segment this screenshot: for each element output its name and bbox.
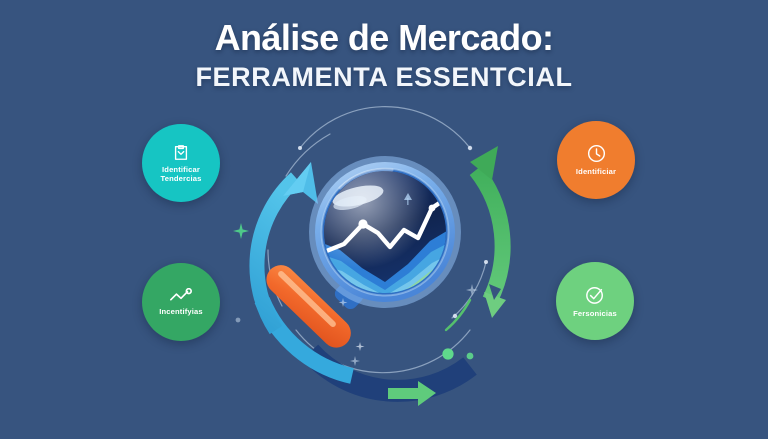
badge-label: Incentifyias (159, 307, 203, 316)
clock-icon (586, 143, 607, 164)
infographic-canvas: Análise de Mercado: FERRAMENTA ESSENTCIA… (0, 0, 768, 439)
badge-identificar-tendercias[interactable]: Identificar Tendercias (142, 124, 220, 202)
clipboard-chevron-icon (172, 143, 190, 162)
arc-inner-green-thin (446, 300, 470, 330)
check-circle-icon (584, 284, 606, 306)
badge-incentifyias[interactable]: Incentifyias (142, 263, 220, 341)
badge-label: Identificar Tendercias (145, 165, 217, 184)
badge-identificiar[interactable]: Identificiar (557, 121, 635, 199)
badge-label: Fersonicias (573, 309, 617, 318)
badge-fersonicias[interactable]: Fersonicias (556, 262, 634, 340)
center-graphic (0, 0, 768, 439)
badge-label: Identificiar (576, 167, 616, 176)
arc-right-green (470, 146, 506, 318)
trend-line-icon (169, 288, 193, 304)
